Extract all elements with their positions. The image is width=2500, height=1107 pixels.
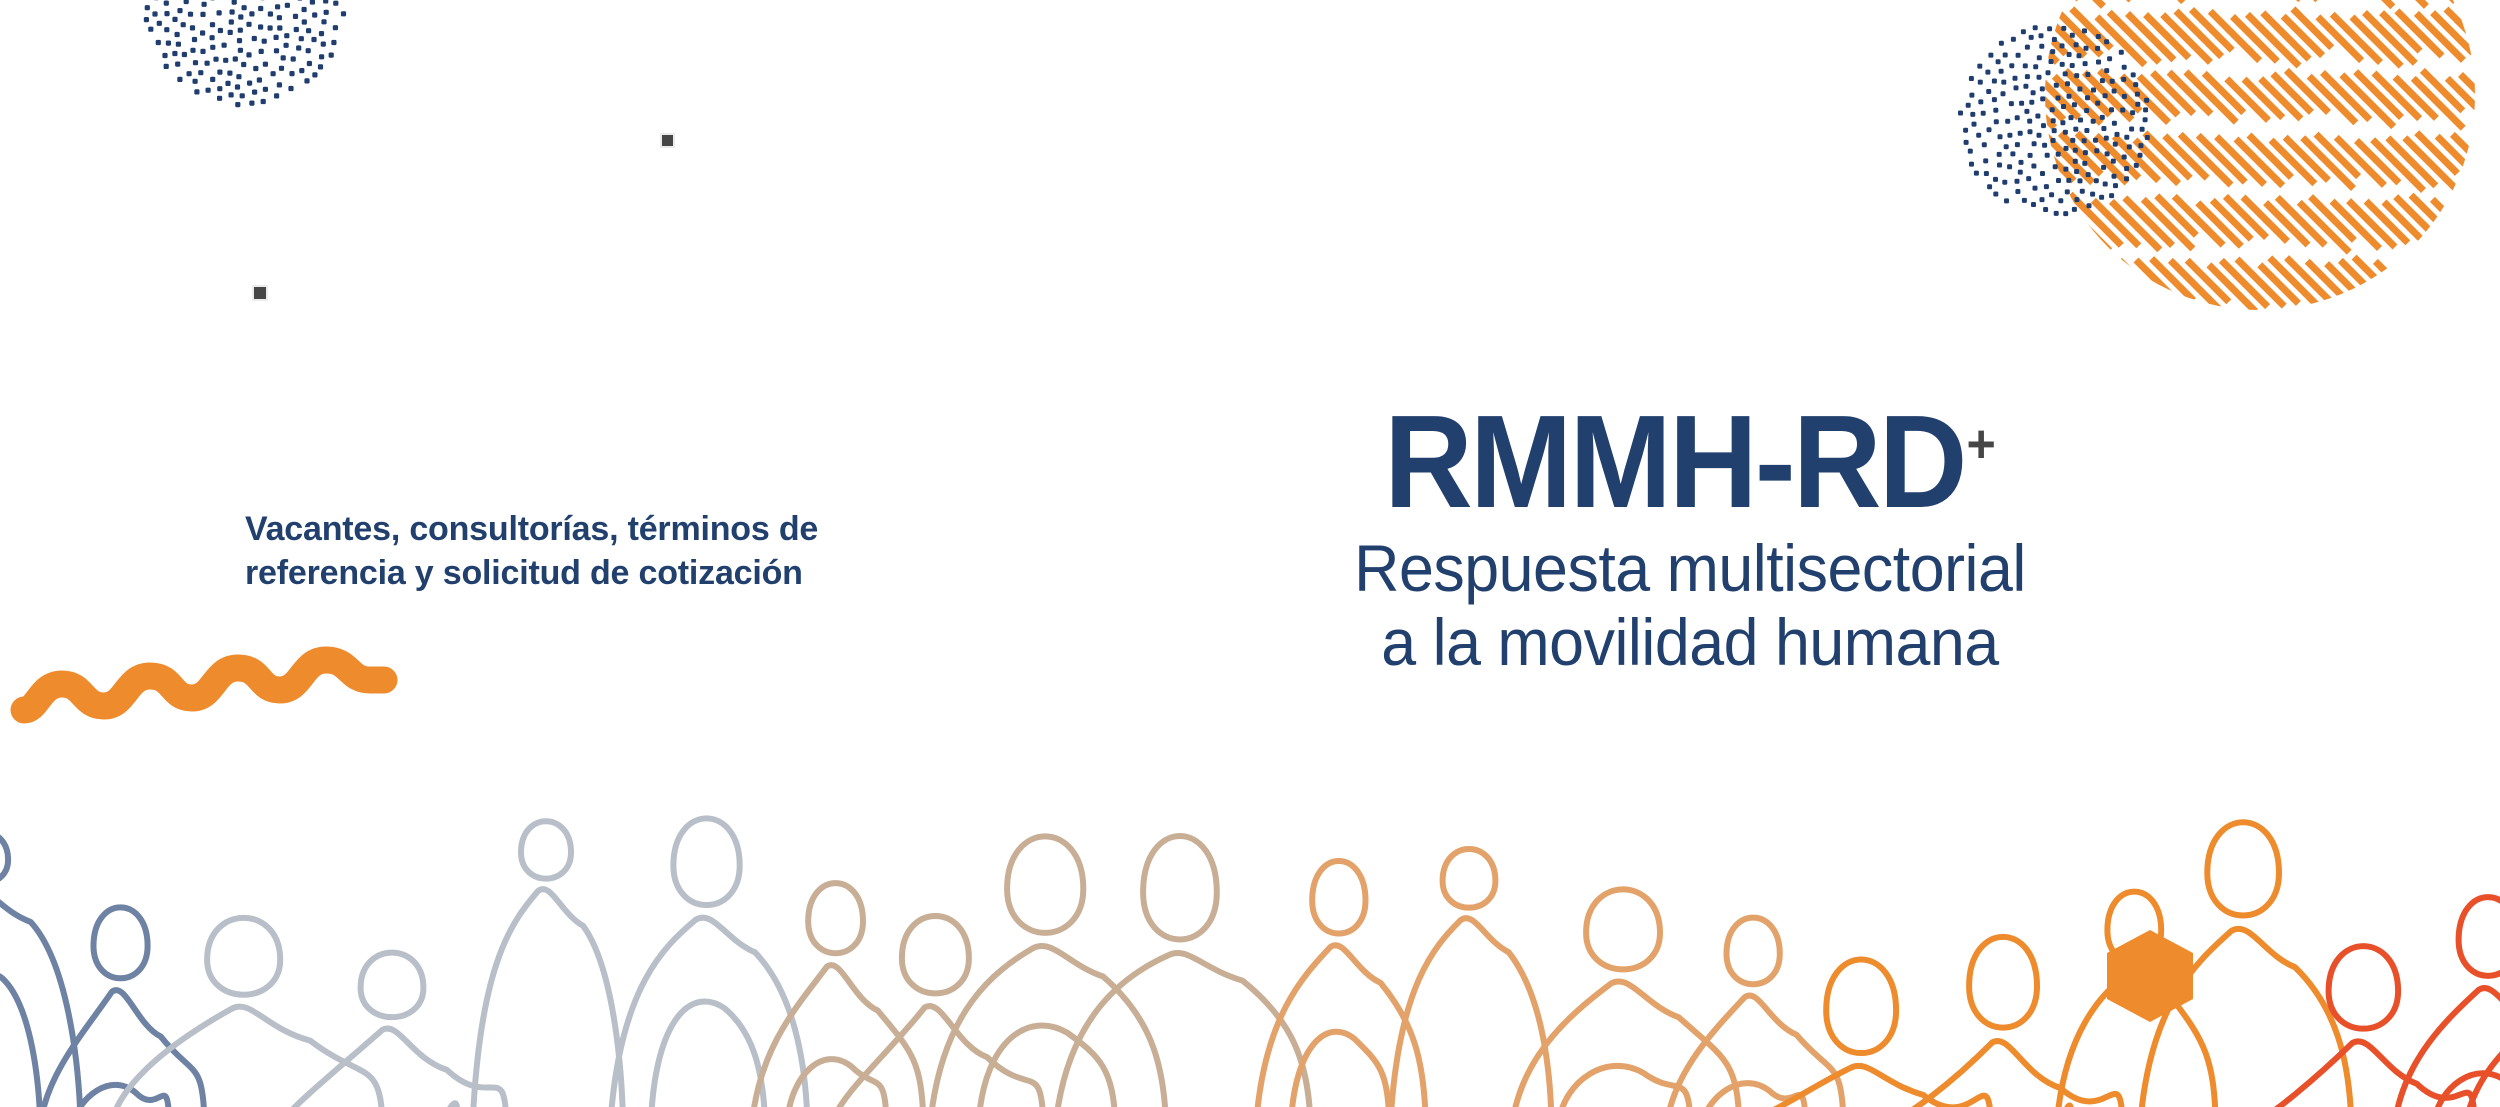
brand-subtitle-line-1: Respuesta multisectorial <box>1272 532 2108 606</box>
brand-acronym: RMMH-RD+ <box>1281 396 2099 528</box>
brand-subtitle: Respuesta multisectorial a la movilidad … <box>1272 532 2108 680</box>
dotted-circle-icon <box>1955 20 2155 220</box>
brand-superscript-plus: + <box>1967 414 1996 474</box>
banner-root: Vacantes, consultorías, términos de refe… <box>0 0 2500 1107</box>
square-icon <box>660 133 675 148</box>
striped-circle-icon <box>2045 0 2475 310</box>
hexagon-icon <box>2104 928 2196 1024</box>
brand-subtitle-line-2: a la movilidad humana <box>1272 606 2108 680</box>
brand-block: RMMH-RD+ Respuesta multisectorial a la m… <box>1250 396 2130 680</box>
brand-acronym-text: RMMH-RD <box>1384 388 1964 535</box>
crowd-line-art-icon <box>0 790 2500 1107</box>
dotted-circle-icon <box>140 0 350 110</box>
square-icon <box>252 285 268 301</box>
tagline-line-2: referencia y solicitud de cotización <box>245 552 1005 596</box>
tagline: Vacantes, consultorías, términos de refe… <box>245 508 1005 595</box>
squiggle-wave-icon <box>10 636 400 726</box>
tagline-line-1: Vacantes, consultorías, términos de <box>245 508 1005 552</box>
